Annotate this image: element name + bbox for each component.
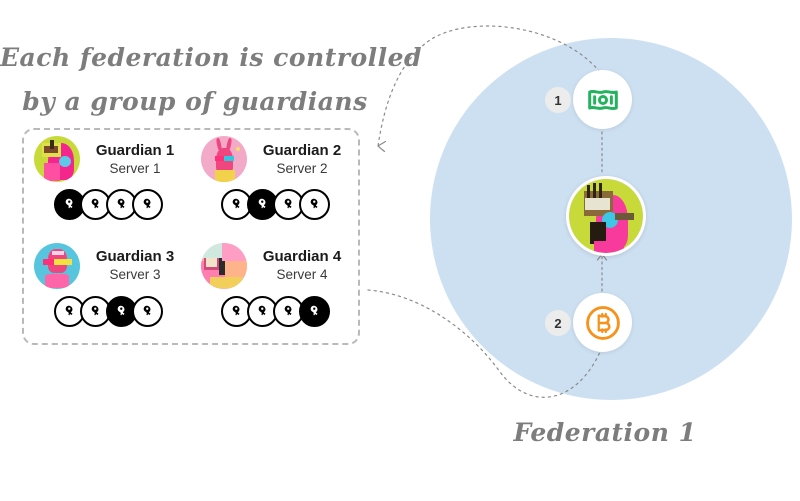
key-share-4-active[interactable]	[299, 296, 330, 327]
guardian-card-2[interactable]: Guardian 2Server 2	[191, 130, 358, 237]
federation-label: Federation 1	[460, 418, 750, 447]
guardian-3-avatar	[34, 243, 80, 289]
key-icon	[307, 197, 322, 212]
key-icon	[62, 197, 77, 212]
key-icon	[140, 197, 155, 212]
key-icon	[307, 304, 322, 319]
key-icon	[255, 304, 270, 319]
headline: Each federation is controlled by a group…	[0, 36, 390, 124]
key-icon	[229, 197, 244, 212]
node-badge-1: 1	[545, 87, 571, 113]
key-share-4-inactive[interactable]	[299, 189, 330, 220]
guardian-name: Guardian 3	[96, 247, 174, 266]
arrow-head-top	[378, 142, 386, 152]
key-icon	[281, 197, 296, 212]
bitcoin-node[interactable]	[573, 293, 632, 352]
guardian-card-1[interactable]: Guardian 1Server 1	[24, 130, 191, 237]
guardian-key-shares	[195, 189, 354, 220]
guardian-server: Server 2	[276, 160, 327, 178]
guardian-key-shares	[28, 189, 187, 220]
guardian-card-3[interactable]: Guardian 3Server 3	[24, 237, 191, 344]
key-icon	[88, 197, 103, 212]
guardian-key-shares	[28, 296, 187, 327]
ecash-node[interactable]	[573, 70, 632, 129]
guardian-header: Guardian 1Server 1	[28, 136, 187, 182]
key-icon	[88, 304, 103, 319]
key-icon	[281, 304, 296, 319]
guardian-header: Guardian 4Server 4	[195, 243, 354, 289]
node-badge-2: 2	[545, 310, 571, 336]
key-icon	[255, 197, 270, 212]
federation-avatar	[569, 179, 643, 253]
key-share-4-inactive[interactable]	[132, 296, 163, 327]
guardian-2-avatar	[201, 136, 247, 182]
guardian-server: Server 3	[109, 266, 160, 284]
guardians-grid: Guardian 1Server 1Guardian 2Server 2Guar…	[24, 130, 358, 343]
guardian-server: Server 4	[276, 266, 327, 284]
banknote-icon	[586, 83, 620, 117]
key-icon	[62, 304, 77, 319]
guardian-name: Guardian 4	[263, 247, 341, 266]
key-icon	[229, 304, 244, 319]
bitcoin-icon	[584, 304, 622, 342]
headline-line-2: by a group of guardians	[0, 80, 390, 124]
federation-center-node[interactable]	[566, 176, 646, 256]
guardian-server: Server 1	[109, 160, 160, 178]
key-share-4-inactive[interactable]	[132, 189, 163, 220]
guardian-key-shares	[195, 296, 354, 327]
guardian-meta: Guardian 3Server 3	[89, 247, 187, 284]
guardian-header: Guardian 2Server 2	[195, 136, 354, 182]
guardian-name: Guardian 1	[96, 141, 174, 160]
key-icon	[114, 304, 129, 319]
guardian-1-avatar	[34, 136, 80, 182]
guardian-4-avatar	[201, 243, 247, 289]
key-icon	[140, 304, 155, 319]
guardian-card-4[interactable]: Guardian 4Server 4	[191, 237, 358, 344]
guardian-meta: Guardian 2Server 2	[256, 141, 354, 178]
key-icon	[114, 197, 129, 212]
guardian-header: Guardian 3Server 3	[28, 243, 187, 289]
guardians-group-box: Guardian 1Server 1Guardian 2Server 2Guar…	[22, 128, 360, 345]
guardian-meta: Guardian 4Server 4	[256, 247, 354, 284]
diagram-canvas: Each federation is controlled by a group…	[0, 0, 800, 501]
guardian-name: Guardian 2	[263, 141, 341, 160]
headline-line-1: Each federation is controlled	[0, 36, 390, 80]
guardian-meta: Guardian 1Server 1	[89, 141, 187, 178]
